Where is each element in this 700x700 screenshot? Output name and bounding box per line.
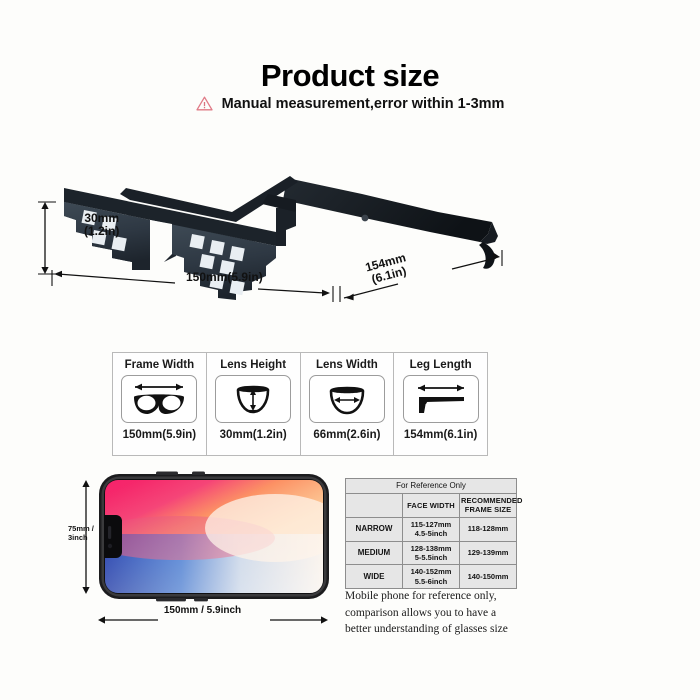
spec-card-lens-width: Lens Width 66mm(2.6in): [301, 353, 395, 455]
reference-note-line1: Mobile phone for reference only,: [345, 588, 535, 605]
table-header-recommended-line1: RECOMMENDED: [461, 496, 515, 505]
spec-card-title: Leg Length: [410, 359, 472, 371]
row-face-width-in: 5.5-6inch: [404, 577, 458, 586]
lens-height-dim-mm: 30mm: [84, 212, 119, 225]
row-face-width-mm: 115-127mm: [404, 520, 458, 529]
spec-card-value: 30mm(1.2in): [220, 429, 287, 441]
product-size-infographic: Product size Manual measurement,error wi…: [0, 0, 700, 700]
row-category: WIDE: [346, 565, 403, 589]
measurement-note: Manual measurement,error within 1-3mm: [0, 96, 700, 115]
reference-note: Mobile phone for reference only, compari…: [345, 588, 535, 638]
row-face-width-mm: 140-152mm: [404, 567, 458, 576]
row-face-width-in: 5-5.5inch: [404, 553, 458, 562]
spec-card-title: Lens Width: [316, 359, 378, 371]
table-header-face-width: FACE WIDTH: [403, 494, 460, 518]
lens-height-dimension-label: 30mm (1.2in): [84, 212, 119, 239]
reference-note-line2: comparison allows you to have a: [345, 605, 535, 622]
row-face-width-mm: 128-138mm: [404, 544, 458, 553]
table-header-recommended: RECOMMENDED FRAME SIZE: [460, 494, 517, 518]
spec-card-frame-width: Frame Width 150mm(5.9in): [113, 353, 207, 455]
row-category: NARROW: [346, 517, 403, 541]
eyeglasses-frame-icon: [121, 375, 197, 423]
spec-card-leg-length: Leg Length 154mm(6.1in): [394, 353, 487, 455]
table-header-row: FACE WIDTH RECOMMENDED FRAME SIZE: [346, 494, 517, 518]
phone-width-dimension-label: 150mm / 5.9inch: [60, 605, 345, 617]
table-header-blank: [346, 494, 403, 518]
spec-card-value: 66mm(2.6in): [313, 429, 380, 441]
product-diagram: 30mm (1.2in) 150mm(5.9in) 154mm (6.1in): [0, 150, 700, 340]
lens-width-icon: [309, 375, 385, 423]
table-caption-row: For Reference Only: [346, 479, 517, 494]
spec-card-row: Frame Width 150mm(5.9in) Lens Height: [112, 352, 488, 456]
table-header-recommended-line2: FRAME SIZE: [461, 505, 515, 514]
spec-card-title: Frame Width: [125, 359, 195, 371]
warning-triangle-icon: [196, 96, 213, 115]
row-recommended: 118-128mm: [460, 517, 517, 541]
temple-arm-icon: [403, 375, 479, 423]
row-face-width: 128-138mm 5-5.5inch: [403, 541, 460, 565]
row-face-width: 115-127mm 4.5-5inch: [403, 517, 460, 541]
reference-note-line3: better understanding of glasses size: [345, 621, 535, 638]
row-recommended: 129-139mm: [460, 541, 517, 565]
face-size-reference-table: For Reference Only FACE WIDTH RECOMMENDE…: [345, 478, 517, 589]
phone-height-dimension-label: 75mm / 3inch: [68, 524, 94, 542]
measurement-note-text: Manual measurement,error within 1-3mm: [222, 96, 505, 112]
row-face-width-in: 4.5-5inch: [404, 529, 458, 538]
sunglasses-illustration: [0, 150, 700, 340]
page-title: Product size: [0, 58, 700, 94]
table-row: WIDE 140-152mm 5.5-6inch 140-150mm: [346, 565, 517, 589]
row-face-width: 140-152mm 5.5-6inch: [403, 565, 460, 589]
row-recommended: 140-150mm: [460, 565, 517, 589]
spec-card-value: 154mm(6.1in): [404, 429, 478, 441]
phone-height-mm: 75mm /: [68, 524, 94, 533]
phone-reference-diagram: 75mm / 3inch 150mm / 5.9inch: [60, 468, 345, 643]
row-category: MEDIUM: [346, 541, 403, 565]
lens-height-icon: [215, 375, 291, 423]
phone-height-in: 3inch: [68, 533, 94, 542]
table-row: MEDIUM 128-138mm 5-5.5inch 129-139mm: [346, 541, 517, 565]
spec-card-lens-height: Lens Height 30mm(1.2in): [207, 353, 301, 455]
table-caption: For Reference Only: [346, 479, 517, 494]
spec-card-value: 150mm(5.9in): [123, 429, 197, 441]
table-row: NARROW 115-127mm 4.5-5inch 118-128mm: [346, 517, 517, 541]
frame-width-dimension-label: 150mm(5.9in): [186, 271, 263, 284]
lens-height-dim-in: (1.2in): [84, 225, 119, 238]
spec-card-title: Lens Height: [220, 359, 286, 371]
